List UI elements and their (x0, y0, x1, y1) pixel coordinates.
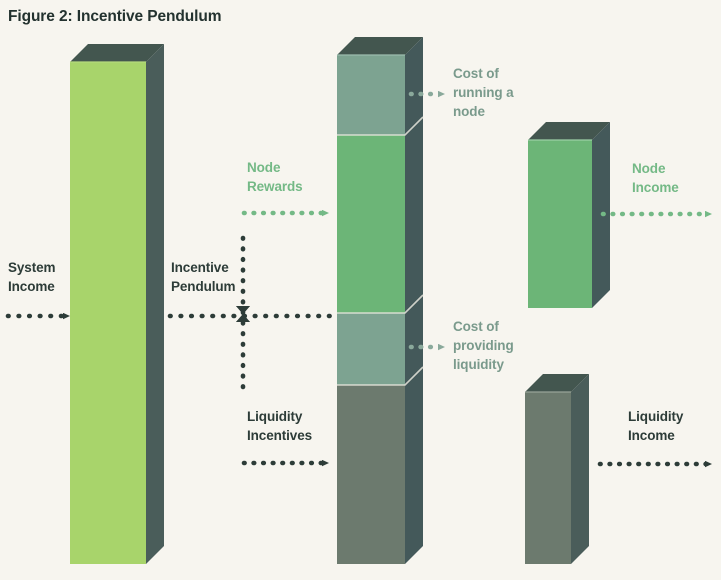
label-cost-of-running-a-node: Cost of running a node (453, 64, 514, 121)
pendulum-pivot-icon (236, 306, 250, 322)
label-node-income: Node Income (632, 159, 679, 197)
label-node-rewards: Node Rewards (247, 158, 303, 196)
diagram-canvas (0, 0, 721, 580)
label-liquidity-income: Liquidity Income (628, 407, 683, 445)
segment-cost-of-running-a-node (337, 55, 405, 135)
bar-liquidity-income (525, 374, 589, 564)
label-system-income: System Income (8, 258, 55, 296)
label-liquidity-incentives: Liquidity Incentives (247, 407, 312, 445)
bar-system-income (70, 44, 164, 564)
label-incentive-pendulum: Incentive Pendulum (171, 258, 235, 296)
label-cost-of-providing-liquidity: Cost of providing liquidity (453, 317, 514, 374)
segment-node-rewards (337, 135, 405, 313)
bar-incentive-stack (337, 37, 423, 564)
bar-node-income (528, 122, 610, 308)
figure-container: Figure 2: Incentive Pendulum (0, 0, 721, 580)
segment-liquidity-incentives (337, 385, 405, 564)
segment-cost-of-providing-liquidity (337, 313, 405, 385)
